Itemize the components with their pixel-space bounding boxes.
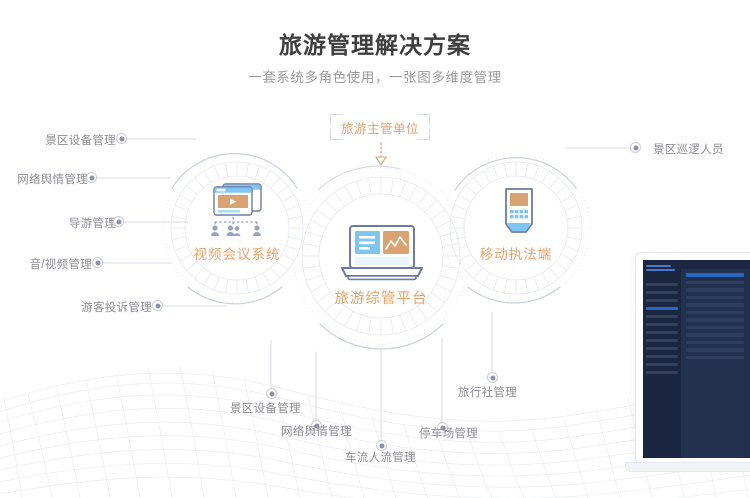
corner-bracket-top-left	[330, 114, 343, 125]
dashboard-sidebar[interactable]	[643, 260, 681, 458]
video-conference-icon	[201, 181, 273, 237]
leaf-dot-bottom-0[interactable]	[266, 388, 277, 399]
dashboard-tree[interactable]	[684, 273, 746, 359]
product-laptop-mockup	[625, 252, 750, 498]
dashboard-menu[interactable]	[643, 283, 681, 374]
leaf-dot-left-1[interactable]	[86, 172, 97, 183]
leaf-label-bottom-3[interactable]: 停车场管理	[419, 425, 478, 441]
authority-box[interactable]: 旅游主管单位	[330, 114, 430, 140]
leaf-dot-left-2[interactable]	[113, 216, 124, 227]
laptop-body	[635, 252, 750, 464]
leaf-dot-left-4[interactable]	[152, 300, 163, 311]
leaf-label-bottom-2[interactable]: 车流人流管理	[345, 449, 416, 465]
authority-connector-arrow	[376, 143, 386, 165]
page-title: 旅游管理解决方案	[0, 26, 750, 60]
leaf-dot-left-0[interactable]	[116, 133, 127, 144]
leaf-label-left-1[interactable]: 网络舆情管理	[0, 171, 88, 187]
leaf-label-left-4[interactable]: 游客投诉管理	[54, 299, 152, 315]
laptop-base	[625, 462, 750, 472]
dashboard-logo	[646, 265, 678, 278]
corner-bracket-top-right	[417, 114, 430, 125]
page-subtitle: 一套系统多角色使用，一张图多维度管理	[0, 66, 750, 86]
leaf-label-left-3[interactable]: 音/视频管理	[0, 256, 92, 272]
laptop-screen	[643, 260, 750, 458]
hub-caption-video-conference: 视频会议系统	[172, 243, 302, 263]
corner-bracket-bottom-left	[330, 129, 343, 140]
hub-caption-platform: 旅游综管平台	[316, 287, 446, 308]
leaf-dot-bottom-4[interactable]	[487, 372, 498, 383]
dashboard-content[interactable]	[681, 260, 749, 458]
infographic-canvas: 旅游管理解决方案 一套系统多角色使用，一张图多维度管理 旅游主管单位	[0, 0, 750, 498]
leaf-label-bottom-4[interactable]: 旅行社管理	[458, 384, 517, 400]
leaf-label-right-0[interactable]: 景区巡逻人员	[653, 141, 724, 157]
leaf-label-bottom-0[interactable]: 景区设备管理	[230, 400, 301, 416]
hub-caption-mobile-law: 移动执法端	[466, 243, 566, 263]
leaf-label-left-0[interactable]: 景区设备管理	[18, 132, 116, 148]
authority-label: 旅游主管单位	[341, 118, 419, 137]
leaf-label-left-2[interactable]: 导游管理	[18, 215, 116, 231]
leaf-label-bottom-1[interactable]: 网络舆情管理	[281, 423, 352, 439]
dashboard-topbar	[681, 260, 749, 269]
corner-bracket-bottom-right	[417, 129, 430, 140]
leaf-dot-left-3[interactable]	[92, 257, 103, 268]
laptop-chart-icon	[336, 224, 428, 282]
handheld-device-icon	[499, 186, 539, 238]
leaf-dot-right-0[interactable]	[630, 142, 641, 153]
